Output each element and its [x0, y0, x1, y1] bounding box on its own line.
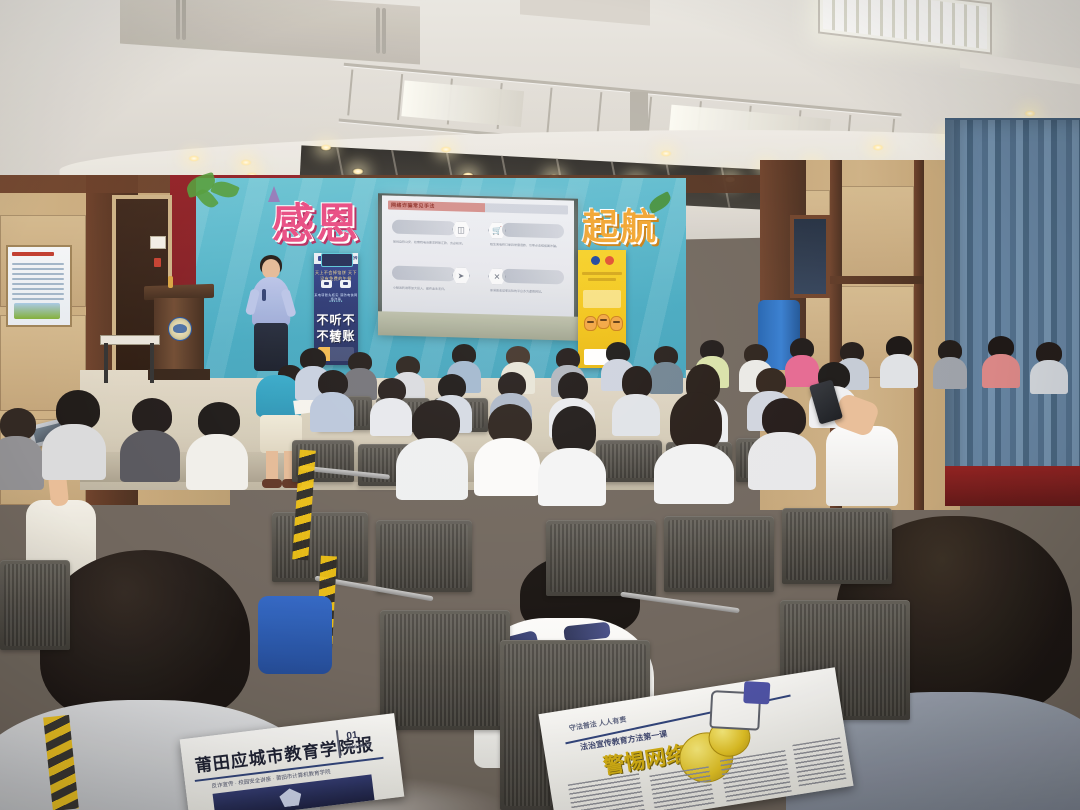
- newspaper-edition: 01: [346, 730, 358, 742]
- air-conditioner-unit: [120, 0, 420, 64]
- downlight: [1024, 110, 1036, 117]
- slide-card: [502, 223, 564, 239]
- auditorium-seat: [0, 560, 70, 650]
- auditorium-seat: [546, 520, 656, 596]
- window-curtain: [945, 120, 1080, 500]
- microphone: [262, 289, 266, 301]
- handout-text-column: [720, 750, 792, 802]
- sleeve-cuff: [743, 681, 770, 704]
- cursor-icon: ➤: [452, 266, 470, 285]
- badge-icon: ◫: [452, 220, 470, 239]
- slide-card-body: 陌生来电称订单异常需退款，引导点击链接属诈骗。: [490, 242, 564, 248]
- downlight: [240, 159, 252, 166]
- speaker-trousers: [254, 323, 288, 371]
- blue-bag: [258, 596, 332, 674]
- slide-card-body: 接到自称公安、检察院电话要求转账汇款，务必核实。: [393, 240, 471, 246]
- assistant-shoe: [262, 479, 282, 488]
- slide-card-body: 小额返利诱导加大投入，最终血本无归。: [393, 286, 471, 292]
- banner-badge-icon: [591, 256, 600, 265]
- downlight: [440, 146, 452, 153]
- slide-card-body: 承诺高收益零风险的平台多为虚假网站。: [490, 288, 564, 294]
- wall-fire-alarm: [154, 258, 161, 267]
- banner-mid-text-2: ●●●●●●: [314, 299, 358, 303]
- downlight: [188, 155, 200, 162]
- lectern-podium: [150, 285, 208, 380]
- curtain-lower-red: [945, 466, 1080, 506]
- speaker-presenter: [248, 255, 294, 375]
- slide-card: [392, 220, 456, 236]
- auditorium-lecture-photo: 感恩 起航 网络诈骗常见手法 ◫ 接到自称公安、检察院电话要求转账汇款，务必核实…: [0, 0, 1080, 810]
- auditorium-seat: [782, 508, 892, 584]
- banner-slogan-pill: [321, 253, 353, 267]
- slide-title-text: 网络诈骗常见手法: [391, 202, 435, 210]
- downlight: [660, 150, 672, 157]
- slide-card: [502, 269, 564, 285]
- handout-text-column: [568, 773, 646, 810]
- mascot-icon: [610, 316, 623, 331]
- downlight: [320, 144, 332, 151]
- assistant-leg: [266, 451, 278, 481]
- podium-bottle: [168, 276, 173, 288]
- wall-dark-panel: [790, 215, 830, 298]
- auditorium-seat: [380, 610, 510, 730]
- banner-badge-icon-2: [605, 256, 614, 265]
- auditorium-seat: [376, 520, 472, 592]
- backdrop-text-left: 感恩: [272, 190, 360, 251]
- banner-slogan-line2: 不转账: [314, 327, 358, 344]
- slide-title-bar: 网络诈骗常见手法: [388, 200, 568, 214]
- ceiling-fluorescent-panel: [818, 0, 992, 55]
- downlight: [352, 168, 364, 175]
- wall-notice-poster: [6, 245, 72, 327]
- backdrop-text-right: 起航: [582, 198, 658, 250]
- photographer-shirt-2: [826, 426, 898, 506]
- speaker-head: [262, 259, 280, 279]
- auditorium-seat: [664, 516, 774, 592]
- downlight: [872, 144, 884, 151]
- mascot-icon: [597, 314, 610, 329]
- side-table: [100, 335, 158, 383]
- audience-photographer-right: [826, 388, 916, 508]
- police-emblem: [168, 317, 192, 341]
- phone-illustration: [340, 280, 351, 288]
- handout-text-column: [649, 766, 714, 810]
- mascot-icon: [584, 316, 597, 331]
- slide-card: [392, 266, 456, 282]
- projection-screen: 网络诈骗常见手法 ◫ 接到自称公安、检察院电话要求转账汇款，务必核实。 🛒 陌生…: [382, 195, 574, 318]
- phone-illustration: [321, 280, 332, 288]
- handout-text-column: [792, 737, 846, 788]
- hair: [40, 550, 250, 722]
- blue-rollup-banner: 反电信网络诈骗宣传 天上不会掉馅饼 天下没有免费的午餐 来电转账先核实 谨防电信…: [314, 253, 358, 365]
- wall-switch-plate: [150, 236, 166, 249]
